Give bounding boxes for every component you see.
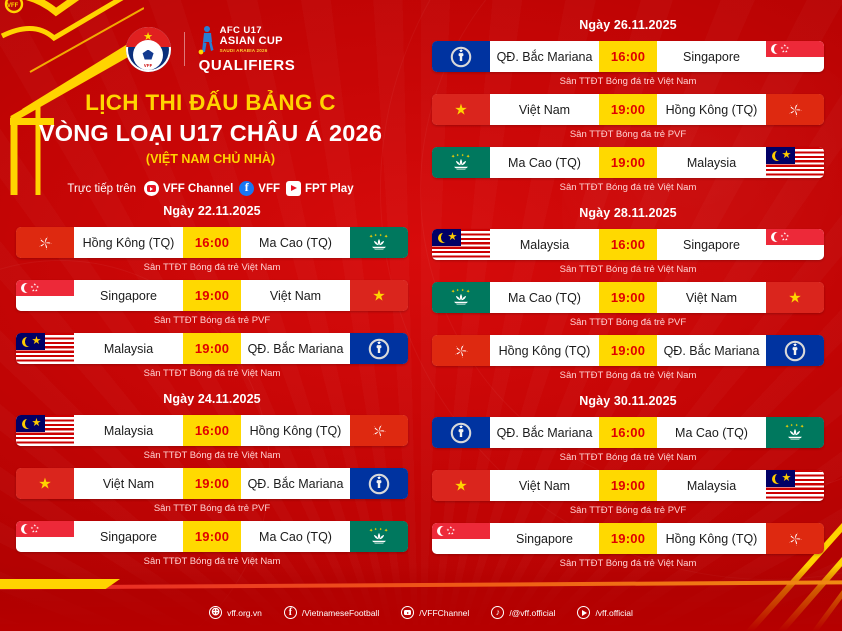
match-entry[interactable]: ★★★★★Singapore19:00Việt Nam★Sân TTĐT Bón… [16, 280, 408, 326]
match-entry[interactable]: ✦✦✦✦Ma Cao (TQ)19:00Malaysia★Sân TTĐT Bó… [432, 147, 824, 193]
away-team-name: Hồng Kông (TQ) [241, 415, 350, 446]
svg-text:★: ★ [459, 48, 464, 54]
svg-text:✦: ✦ [379, 233, 383, 238]
home-flag-cell: ★ [432, 41, 490, 72]
away-flag-cell: ★ [350, 468, 408, 499]
svg-text:★: ★ [785, 49, 788, 53]
flag-vietnam: ★ [432, 470, 490, 501]
match-venue: Sân TTĐT Bóng đá trẻ Việt Nam [432, 452, 824, 463]
match-entry[interactable]: Hồng Kông (TQ)16:00Ma Cao (TQ)✦✦✦✦Sân TT… [16, 227, 408, 273]
flag-hong-kong [432, 335, 490, 366]
match-row[interactable]: ★Việt Nam19:00Malaysia★ [432, 470, 824, 501]
flag-malaysia: ★ [16, 333, 74, 364]
match-row[interactable]: ✦✦✦✦Ma Cao (TQ)19:00Malaysia★ [432, 147, 824, 178]
match-time: 19:00 [599, 94, 657, 125]
flag-vietnam: ★ [766, 282, 824, 313]
match-time: 16:00 [183, 415, 241, 446]
broadcast-item-label: VFF [258, 183, 280, 195]
match-time: 19:00 [183, 280, 241, 311]
flag-macau: ✦✦✦✦ [350, 227, 408, 258]
home-flag-cell: ✦✦✦✦ [432, 147, 490, 178]
home-flag-cell: ★★★★★ [432, 523, 490, 554]
flag-macau: ✦✦✦✦ [432, 147, 490, 178]
date-title: Ngày 30.11.2025 [432, 394, 824, 408]
vff-crest-label: VFF [144, 63, 153, 68]
svg-text:★: ★ [451, 531, 454, 535]
match-venue: Sân TTĐT Bóng đá trẻ Việt Nam [16, 262, 408, 273]
broadcast-item-label: FPT Play [305, 183, 354, 195]
home-team-name: Hồng Kông (TQ) [490, 335, 599, 366]
home-team-name: Singapore [490, 523, 599, 554]
match-entry[interactable]: ★★★★★Singapore19:00Ma Cao (TQ)✦✦✦✦Sân TT… [16, 521, 408, 567]
match-entry[interactable]: ★Malaysia19:00QĐ. Bắc Mariana★Sân TTĐT B… [16, 333, 408, 379]
broadcast-item-facebook[interactable]: VFF [239, 181, 280, 196]
match-venue: Sân TTĐT Bóng đá trẻ PVF [432, 317, 824, 328]
flag-vietnam: ★ [432, 94, 490, 125]
match-time: 16:00 [599, 229, 657, 260]
match-row[interactable]: Hồng Kông (TQ)19:00QĐ. Bắc Mariana★ [432, 335, 824, 366]
schedule-column-right: Ngày 26.11.2025★QĐ. Bắc Mariana16:00Sing… [432, 18, 824, 582]
svg-text:✦: ✦ [456, 288, 460, 293]
home-team-name: Ma Cao (TQ) [490, 282, 599, 313]
flag-northern-mariana: ★ [350, 333, 408, 364]
away-team-name: Hồng Kông (TQ) [657, 523, 766, 554]
date-title: Ngày 24.11.2025 [16, 392, 408, 406]
flag-singapore: ★★★★★ [766, 41, 824, 72]
instagram-icon [577, 606, 590, 619]
poster-title-line3: (VIỆT NAM CHỦ NHÀ) [0, 152, 421, 166]
match-venue: Sân TTĐT Bóng đá trẻ Việt Nam [16, 450, 408, 461]
away-team-name: Ma Cao (TQ) [241, 521, 350, 552]
match-row[interactable]: ★★★★★Singapore19:00Ma Cao (TQ)✦✦✦✦ [16, 521, 408, 552]
footer-link[interactable]: /VietnameseFootball [284, 606, 379, 619]
home-flag-cell: ★ [16, 415, 74, 446]
svg-text:✦: ✦ [790, 423, 794, 428]
date-group: Ngày 30.11.2025★QĐ. Bắc Mariana16:00Ma C… [432, 394, 824, 569]
flag-northern-mariana: ★ [350, 468, 408, 499]
match-row[interactable]: ★Malaysia19:00QĐ. Bắc Mariana★ [16, 333, 408, 364]
match-entry[interactable]: ★Việt Nam19:00QĐ. Bắc Mariana★Sân TTĐT B… [16, 468, 408, 514]
home-flag-cell: ★ [432, 229, 490, 260]
match-entry[interactable]: ★Malaysia16:00Hồng Kông (TQ)Sân TTĐT Bón… [16, 415, 408, 461]
home-team-name: Singapore [74, 280, 183, 311]
flag-singapore: ★★★★★ [16, 280, 74, 311]
flag-northern-mariana: ★ [766, 335, 824, 366]
away-flag-cell: ★★★★★ [766, 229, 824, 260]
match-time: 19:00 [183, 333, 241, 364]
date-title: Ngày 28.11.2025 [432, 206, 824, 220]
home-team-name: Singapore [74, 521, 183, 552]
match-venue: Sân TTĐT Bóng đá trẻ PVF [16, 315, 408, 326]
away-flag-cell: ★ [350, 333, 408, 364]
away-team-name: Malaysia [657, 470, 766, 501]
poster-header: ★ VFF AFC U17 ASIAN CUP [0, 0, 421, 196]
logo-row: ★ VFF AFC U17 ASIAN CUP [0, 24, 421, 74]
match-time: 16:00 [599, 41, 657, 72]
youtube-icon [401, 606, 414, 619]
match-venue: Sân TTĐT Bóng đá trẻ Việt Nam [432, 558, 824, 569]
flag-singapore: ★★★★★ [432, 523, 490, 554]
match-time: 19:00 [183, 468, 241, 499]
away-flag-cell: ✦✦✦✦ [350, 521, 408, 552]
date-group: Ngày 24.11.2025★Malaysia16:00Hồng Kông (… [16, 392, 408, 567]
svg-text:✦: ✦ [374, 527, 378, 532]
flag-malaysia: ★ [766, 147, 824, 178]
home-team-name: QĐ. Bắc Mariana [490, 41, 599, 72]
match-row[interactable]: Hồng Kông (TQ)16:00Ma Cao (TQ)✦✦✦✦ [16, 227, 408, 258]
match-venue: Sân TTĐT Bóng đá trẻ PVF [16, 503, 408, 514]
away-team-name: Ma Cao (TQ) [241, 227, 350, 258]
svg-text:★: ★ [377, 340, 382, 346]
away-flag-cell: ✦✦✦✦ [350, 227, 408, 258]
match-row[interactable]: ★Malaysia16:00Hồng Kông (TQ) [16, 415, 408, 446]
afc-asian-cup-logo: AFC U17 ASIAN CUP SAUDI ARABIA 2026 QUAL… [198, 25, 296, 74]
svg-text:★: ★ [35, 529, 38, 533]
tiktok-icon [491, 606, 504, 619]
footer-link-label: /vff.official [595, 608, 632, 618]
footer-link-label: /VFFChannel [419, 608, 469, 618]
match-time: 16:00 [183, 227, 241, 258]
match-row[interactable]: ★QĐ. Bắc Mariana16:00Ma Cao (TQ)✦✦✦✦ [432, 417, 824, 448]
away-flag-cell [350, 415, 408, 446]
facebook-icon [239, 181, 254, 196]
flag-macau: ✦✦✦✦ [350, 521, 408, 552]
home-team-name: Ma Cao (TQ) [490, 147, 599, 178]
away-flag-cell: ★ [766, 282, 824, 313]
footer-link[interactable]: /@vff.official [491, 606, 555, 619]
match-entry[interactable]: ★Việt Nam19:00Hồng Kông (TQ)Sân TTĐT Bón… [432, 94, 824, 140]
svg-text:✦: ✦ [795, 423, 799, 428]
svg-text:✦: ✦ [461, 153, 465, 158]
flag-malaysia: ★ [766, 470, 824, 501]
svg-text:★: ★ [35, 288, 38, 292]
away-team-name: QĐ. Bắc Mariana [241, 468, 350, 499]
away-flag-cell: ★ [766, 335, 824, 366]
footer-link-label: vff.org.vn [227, 608, 262, 618]
vff-crest-icon: ★ VFF [126, 27, 171, 72]
facebook-icon [284, 606, 297, 619]
away-flag-cell: ★ [766, 147, 824, 178]
footer-link[interactable]: /VFFChannel [401, 606, 469, 619]
match-venue: Sân TTĐT Bóng đá trẻ Việt Nam [432, 370, 824, 381]
flag-macau: ✦✦✦✦ [766, 417, 824, 448]
match-time: 19:00 [599, 282, 657, 313]
away-team-name: QĐ. Bắc Mariana [657, 335, 766, 366]
away-team-name: Singapore [657, 229, 766, 260]
svg-text:★: ★ [793, 342, 798, 348]
afc-line1: AFC U17 [220, 26, 283, 36]
away-team-name: Việt Nam [657, 282, 766, 313]
match-entry[interactable]: Hồng Kông (TQ)19:00QĐ. Bắc Mariana★Sân T… [432, 335, 824, 381]
match-time: 19:00 [599, 147, 657, 178]
broadcast-label: Trực tiếp trên [67, 183, 136, 195]
poster-title-line2: VÒNG LOẠI U17 CHÂU Á 2026 [0, 120, 421, 147]
match-entry[interactable]: ★★★★★Singapore19:00Hồng Kông (TQ)Sân TTĐ… [432, 523, 824, 569]
svg-text:★: ★ [377, 475, 382, 481]
match-row[interactable]: ★Việt Nam19:00QĐ. Bắc Mariana★ [16, 468, 408, 499]
flag-malaysia: ★ [432, 229, 490, 260]
home-team-name: Malaysia [74, 333, 183, 364]
away-flag-cell [766, 523, 824, 554]
away-flag-cell: ★ [350, 280, 408, 311]
home-flag-cell: ★ [16, 468, 74, 499]
web-icon [209, 606, 222, 619]
flag-vietnam: ★ [350, 280, 408, 311]
footer-link-label: /@vff.official [509, 608, 555, 618]
match-time: 19:00 [599, 470, 657, 501]
away-team-name: Hồng Kông (TQ) [657, 94, 766, 125]
match-entry[interactable]: ★QĐ. Bắc Mariana16:00Singapore★★★★★Sân T… [432, 41, 824, 87]
footer-yellow-accent [0, 579, 120, 589]
home-team-name: Malaysia [490, 229, 599, 260]
away-team-name: Singapore [657, 41, 766, 72]
footer-link[interactable]: vff.org.vn [209, 606, 262, 619]
match-venue: Sân TTĐT Bóng đá trẻ PVF [432, 505, 824, 516]
match-schedule-poster: VFF ★ VFF [0, 0, 842, 631]
date-title: Ngày 22.11.2025 [16, 204, 408, 218]
date-group: Ngày 22.11.2025Hồng Kông (TQ)16:00Ma Cao… [16, 204, 408, 379]
afc-line2: ASIAN CUP [220, 36, 283, 47]
date-group: Ngày 28.11.2025★Malaysia16:00Singapore★★… [432, 206, 824, 381]
match-time: 19:00 [599, 335, 657, 366]
match-time: 19:00 [599, 523, 657, 554]
match-row[interactable]: ★QĐ. Bắc Mariana16:00Singapore★★★★★ [432, 41, 824, 72]
flag-northern-mariana: ★ [432, 417, 490, 448]
flag-hong-kong [350, 415, 408, 446]
flag-singapore: ★★★★★ [766, 229, 824, 260]
home-team-name: Hồng Kông (TQ) [74, 227, 183, 258]
match-entry[interactable]: ★Malaysia16:00Singapore★★★★★Sân TTĐT Bón… [432, 229, 824, 275]
flag-vietnam: ★ [16, 468, 74, 499]
match-time: 16:00 [599, 417, 657, 448]
home-flag-cell: ★★★★★ [16, 521, 74, 552]
home-team-name: Việt Nam [74, 468, 183, 499]
afc-qualifiers-label: QUALIFIERS [199, 57, 296, 74]
afc-line3: SAUDI ARABIA 2026 [220, 49, 283, 54]
match-entry[interactable]: ✦✦✦✦Ma Cao (TQ)19:00Việt Nam★Sân TTĐT Bó… [432, 282, 824, 328]
svg-text:★: ★ [459, 424, 464, 430]
away-team-name: Việt Nam [241, 280, 350, 311]
footer-social-links: vff.org.vn/VietnameseFootball/VFFChannel… [0, 606, 842, 619]
home-flag-cell: ★ [432, 94, 490, 125]
match-venue: Sân TTĐT Bóng đá trẻ Việt Nam [432, 182, 824, 193]
match-venue: Sân TTĐT Bóng đá trẻ Việt Nam [432, 264, 824, 275]
svg-text:✦: ✦ [379, 527, 383, 532]
match-entry[interactable]: ★Việt Nam19:00Malaysia★Sân TTĐT Bóng đá … [432, 470, 824, 516]
flag-hong-kong [766, 523, 824, 554]
youtube-icon [144, 181, 159, 196]
svg-text:✦: ✦ [374, 233, 378, 238]
match-venue: Sân TTĐT Bóng đá trẻ Việt Nam [16, 368, 408, 379]
broadcast-item-label: VFF Channel [163, 183, 233, 195]
broadcast-bar: Trực tiếp trên VFF Channel VFF FPT Play [0, 181, 421, 196]
date-title: Ngày 26.11.2025 [432, 18, 824, 32]
home-flag-cell: ★ [432, 417, 490, 448]
logo-divider [184, 32, 185, 66]
home-flag-cell: ✦✦✦✦ [432, 282, 490, 313]
svg-text:✦: ✦ [461, 288, 465, 293]
match-time: 19:00 [183, 521, 241, 552]
poster-title-line1: LỊCH THI ĐẤU BẢNG C [0, 90, 421, 116]
schedule-column-left: Ngày 22.11.2025Hồng Kông (TQ)16:00Ma Cao… [16, 204, 408, 580]
away-flag-cell: ✦✦✦✦ [766, 417, 824, 448]
match-row[interactable]: ✦✦✦✦Ma Cao (TQ)19:00Việt Nam★ [432, 282, 824, 313]
flag-macau: ✦✦✦✦ [432, 282, 490, 313]
footer-link[interactable]: /vff.official [577, 606, 632, 619]
home-team-name: QĐ. Bắc Mariana [490, 417, 599, 448]
match-entry[interactable]: ★QĐ. Bắc Mariana16:00Ma Cao (TQ)✦✦✦✦Sân … [432, 417, 824, 463]
flag-malaysia: ★ [16, 415, 74, 446]
home-team-name: Việt Nam [490, 470, 599, 501]
home-flag-cell: ★ [16, 333, 74, 364]
match-row[interactable]: ★Malaysia16:00Singapore★★★★★ [432, 229, 824, 260]
home-team-name: Malaysia [74, 415, 183, 446]
away-team-name: Malaysia [657, 147, 766, 178]
match-row[interactable]: ★★★★★Singapore19:00Việt Nam★ [16, 280, 408, 311]
svg-text:✦: ✦ [456, 153, 460, 158]
away-flag-cell: ★★★★★ [766, 41, 824, 72]
away-team-name: Ma Cao (TQ) [657, 417, 766, 448]
match-venue: Sân TTĐT Bóng đá trẻ Việt Nam [432, 76, 824, 87]
match-venue: Sân TTĐT Bóng đá trẻ Việt Nam [16, 556, 408, 567]
home-team-name: Việt Nam [490, 94, 599, 125]
date-group: Ngày 26.11.2025★QĐ. Bắc Mariana16:00Sing… [432, 18, 824, 193]
flag-hong-kong [16, 227, 74, 258]
flag-singapore: ★★★★★ [16, 521, 74, 552]
home-flag-cell [432, 335, 490, 366]
afc-player-icon [198, 25, 215, 55]
away-team-name: QĐ. Bắc Mariana [241, 333, 350, 364]
away-flag-cell [766, 94, 824, 125]
svg-text:★: ★ [785, 237, 788, 241]
broadcast-item-fptplay[interactable]: FPT Play [286, 181, 354, 196]
flag-northern-mariana: ★ [432, 41, 490, 72]
home-flag-cell [16, 227, 74, 258]
fptplay-icon [286, 181, 301, 196]
match-venue: Sân TTĐT Bóng đá trẻ PVF [432, 129, 824, 140]
away-flag-cell: ★ [766, 470, 824, 501]
flag-hong-kong [766, 94, 824, 125]
broadcast-item-youtube[interactable]: VFF Channel [144, 181, 233, 196]
home-flag-cell: ★★★★★ [16, 280, 74, 311]
match-row[interactable]: ★★★★★Singapore19:00Hồng Kông (TQ) [432, 523, 824, 554]
home-flag-cell: ★ [432, 470, 490, 501]
match-row[interactable]: ★Việt Nam19:00Hồng Kông (TQ) [432, 94, 824, 125]
footer-link-label: /VietnameseFootball [302, 608, 379, 618]
